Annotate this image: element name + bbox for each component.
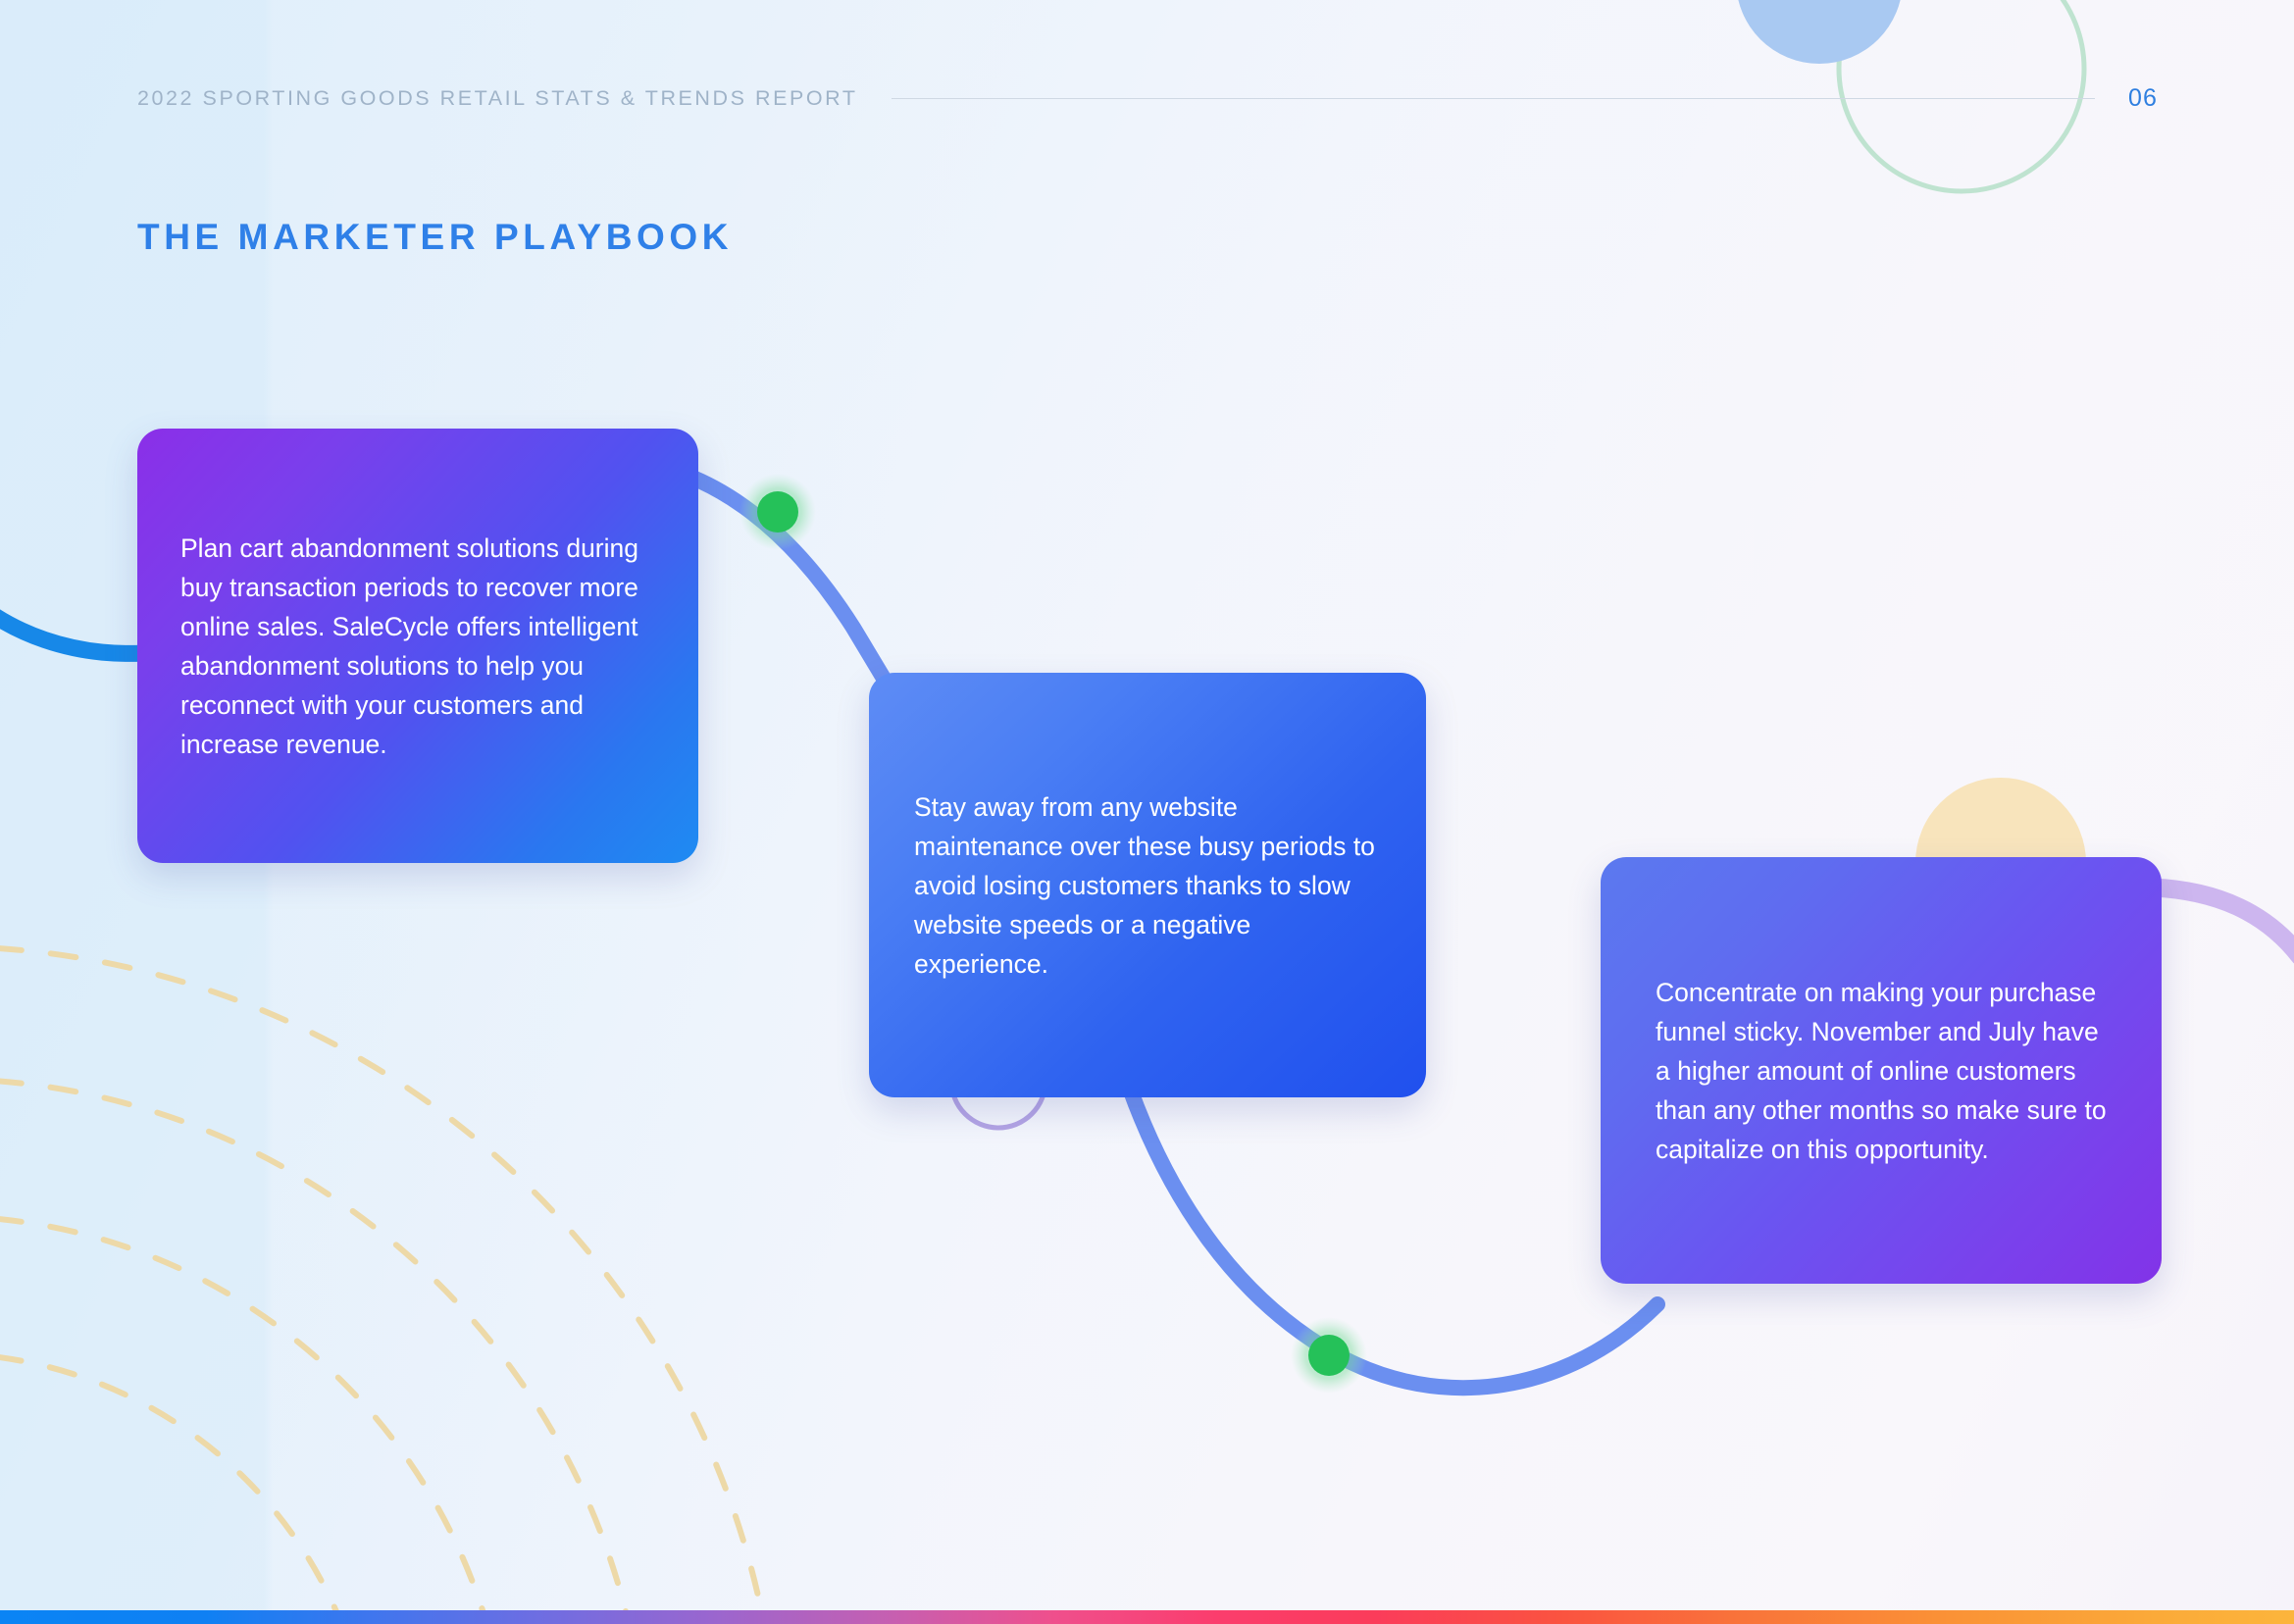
- connector-line-2: [1130, 1089, 1657, 1388]
- playbook-card-3: Concentrate on making your purchase funn…: [1601, 857, 2162, 1284]
- playbook-card-1: Plan cart abandonment solutions during b…: [137, 429, 698, 863]
- page-title: THE MARKETER PLAYBOOK: [137, 217, 733, 258]
- playbook-card-3-text: Concentrate on making your purchase funn…: [1656, 973, 2116, 1169]
- playbook-card-2-text: Stay away from any website maintenance o…: [914, 787, 1375, 984]
- page-header: 2022 SPORTING GOODS RETAIL STATS & TREND…: [137, 78, 2158, 118]
- page-number: 06: [2128, 84, 2158, 113]
- playbook-card-2: Stay away from any website maintenance o…: [869, 673, 1426, 1097]
- node-dot-1: [739, 474, 816, 550]
- exit-line-decoration: [2153, 888, 2294, 956]
- footer-gradient-bar: [0, 1610, 2294, 1624]
- header-divider: [892, 98, 2095, 99]
- report-kicker: 2022 SPORTING GOODS RETAIL STATS & TREND…: [137, 86, 858, 111]
- circle-blue-icon: [1736, 0, 1903, 64]
- slide-page: 2022 SPORTING GOODS RETAIL STATS & TREND…: [0, 0, 2294, 1624]
- playbook-card-1-text: Plan cart abandonment solutions during b…: [180, 529, 653, 764]
- dashed-arcs-decoration: [0, 946, 780, 1624]
- node-dot-2: [1291, 1317, 1367, 1394]
